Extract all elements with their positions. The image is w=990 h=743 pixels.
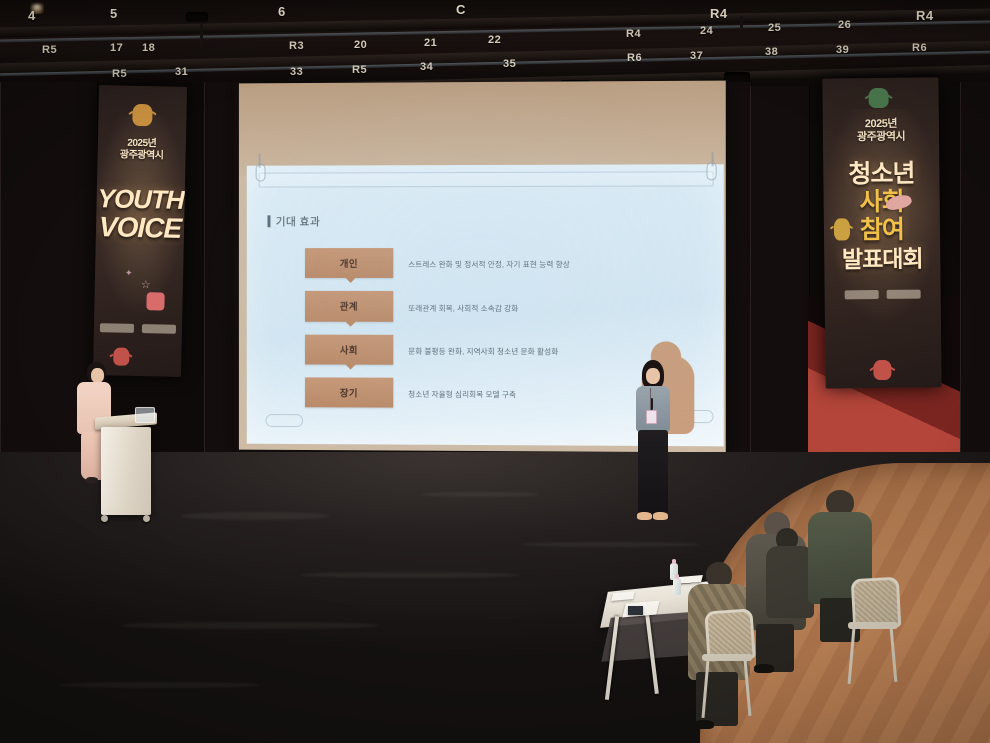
water-bottle[interactable] — [673, 578, 681, 595]
flow-description: 문화 불평등 완화, 지역사회 청소년 문화 활성화 — [408, 346, 558, 357]
truss-number: 33 — [290, 66, 303, 78]
chair[interactable] — [846, 578, 900, 686]
presenter-trousers — [638, 430, 668, 514]
mascot-icon — [132, 104, 152, 126]
gwangju-city-logo — [845, 290, 879, 299]
podium — [95, 415, 157, 527]
wall-panel — [750, 86, 810, 458]
flow-box-label: 관계 — [305, 291, 394, 321]
chair-leg — [744, 660, 752, 716]
screen-frame-left — [234, 81, 239, 450]
flow-arrow-icon — [346, 364, 356, 369]
student-presenter — [628, 360, 678, 528]
truss-number: 4 — [28, 8, 36, 23]
partner-logo — [887, 290, 921, 299]
truss-number: 26 — [838, 19, 851, 31]
banner-right-year-1: 2025년 — [865, 118, 897, 130]
judge-shoe — [754, 664, 774, 673]
flow-box-label: 사회 — [305, 334, 394, 364]
flow-arrow-icon — [346, 278, 356, 283]
truss-number: R6 — [627, 52, 642, 64]
chair-leg — [701, 660, 709, 718]
presenter-face — [646, 368, 660, 384]
banner-contest: 2025년 광주광역시 청소년 사회 참여 발표대회 — [822, 77, 941, 388]
truss-number: 38 — [765, 46, 778, 58]
slide-title-placeholder-frame — [258, 172, 713, 188]
slide-decoration-pill-left — [265, 414, 303, 427]
wall-panel — [960, 82, 990, 462]
star-icon: ☆ — [141, 278, 151, 291]
banner-right-year-2: 광주광역시 — [857, 131, 905, 144]
flow-row: 관계또래관계 회복, 사회적 소속감 강화 — [277, 289, 704, 333]
presenter-shoe — [653, 512, 668, 520]
truss-number: 20 — [354, 39, 367, 51]
banner-right-headline-2: 사회 — [824, 189, 940, 215]
stage-lamp — [186, 12, 208, 22]
banner-left-headline-1: YOUTH — [96, 185, 185, 213]
chair-leg — [890, 628, 898, 682]
mascot-icon — [873, 360, 891, 380]
truss-drop — [200, 22, 203, 48]
slide-heading-text: 기대 효과 — [276, 216, 321, 228]
wall-panel — [722, 82, 752, 457]
truss-number: 22 — [488, 34, 501, 46]
flow-description: 청소년 자율형 심리회복 모델 구축 — [408, 389, 516, 400]
truss-number: R5 — [42, 44, 57, 56]
presenter-jacket — [636, 386, 670, 432]
frame-stem-right — [712, 152, 714, 166]
truss-number: R5 — [352, 64, 367, 76]
truss-number: R4 — [916, 8, 934, 23]
truss-number: C — [456, 2, 466, 17]
slide-heading: 기대 효과 — [268, 213, 320, 229]
gwangju-city-logo — [100, 323, 134, 333]
truss-number: 35 — [503, 58, 516, 70]
mascot-icon — [146, 292, 164, 310]
truss-number: 31 — [175, 66, 188, 78]
truss-number: 24 — [700, 25, 713, 37]
banner-left-year: 2025년 광주광역시 — [97, 137, 185, 162]
flow-arrow-icon — [346, 321, 356, 326]
truss-number: 17 — [110, 42, 123, 54]
podium-caster — [143, 515, 150, 522]
truss-number: 34 — [420, 61, 433, 73]
sparkle-icon: ✦ — [125, 268, 133, 279]
flow-box-label: 개인 — [305, 248, 394, 278]
truss-number: 37 — [690, 50, 703, 62]
presenter-shoe — [637, 512, 652, 520]
banner-left-headline-2: VOICE — [96, 213, 185, 243]
banner-youth-voice: 2025년 광주광역시 YOUTH VOICE ✦ ☆ — [93, 85, 187, 377]
banner-left-logos — [94, 323, 182, 334]
truss-number: R4 — [710, 6, 728, 21]
banner-right-headline-1: 청소년 — [823, 161, 939, 187]
screen-upper-blank — [238, 81, 726, 176]
truss-number: R6 — [912, 42, 927, 54]
truss-number: 18 — [142, 42, 155, 54]
chair[interactable] — [700, 610, 754, 720]
chair-leg — [848, 628, 856, 684]
banner-left-year-2: 광주광역시 — [120, 149, 164, 161]
podium-caster — [101, 515, 108, 522]
truss-number: 6 — [278, 4, 286, 19]
flow-description: 또래관계 회복, 사회적 소속감 강화 — [408, 302, 518, 313]
stage-photo: 456CR4R4R51718R3202122R4242526R53133R534… — [0, 0, 990, 743]
banner-left-year-1: 2025년 — [127, 138, 156, 150]
truss-number: 21 — [424, 37, 437, 49]
podium-acrylic-shield — [135, 407, 155, 423]
judge-shoe — [694, 720, 714, 729]
partner-logo — [142, 324, 176, 334]
name-badge — [646, 410, 657, 424]
truss-number: R3 — [289, 40, 304, 52]
banner-right-year: 2025년 광주광역시 — [823, 117, 939, 144]
truss-number: 39 — [836, 44, 849, 56]
flow-box-label: 장기 — [305, 377, 394, 408]
tablet-device[interactable] — [628, 606, 643, 615]
truss-number: 5 — [110, 6, 118, 21]
truss-number: 25 — [768, 22, 781, 34]
banner-right-logos — [825, 289, 941, 299]
truss-drop — [740, 16, 743, 38]
mascot-icon — [834, 218, 850, 240]
truss-number: R5 — [112, 68, 127, 80]
podium-body — [101, 427, 151, 515]
lanyard — [650, 388, 651, 410]
heading-accent-bar — [268, 215, 271, 227]
mc-face — [91, 368, 104, 383]
banner-right-headline-4: 발표대회 — [824, 247, 940, 271]
truss-number: R4 — [626, 28, 641, 40]
mascot-icon — [868, 88, 888, 108]
flow-row: 개인스트레스 완화 및 정서적 안정, 자기 표현 능력 향상 — [277, 246, 704, 290]
frame-stem-left — [258, 154, 260, 168]
flow-description: 스트레스 완화 및 정서적 안정, 자기 표현 능력 향상 — [408, 259, 570, 270]
